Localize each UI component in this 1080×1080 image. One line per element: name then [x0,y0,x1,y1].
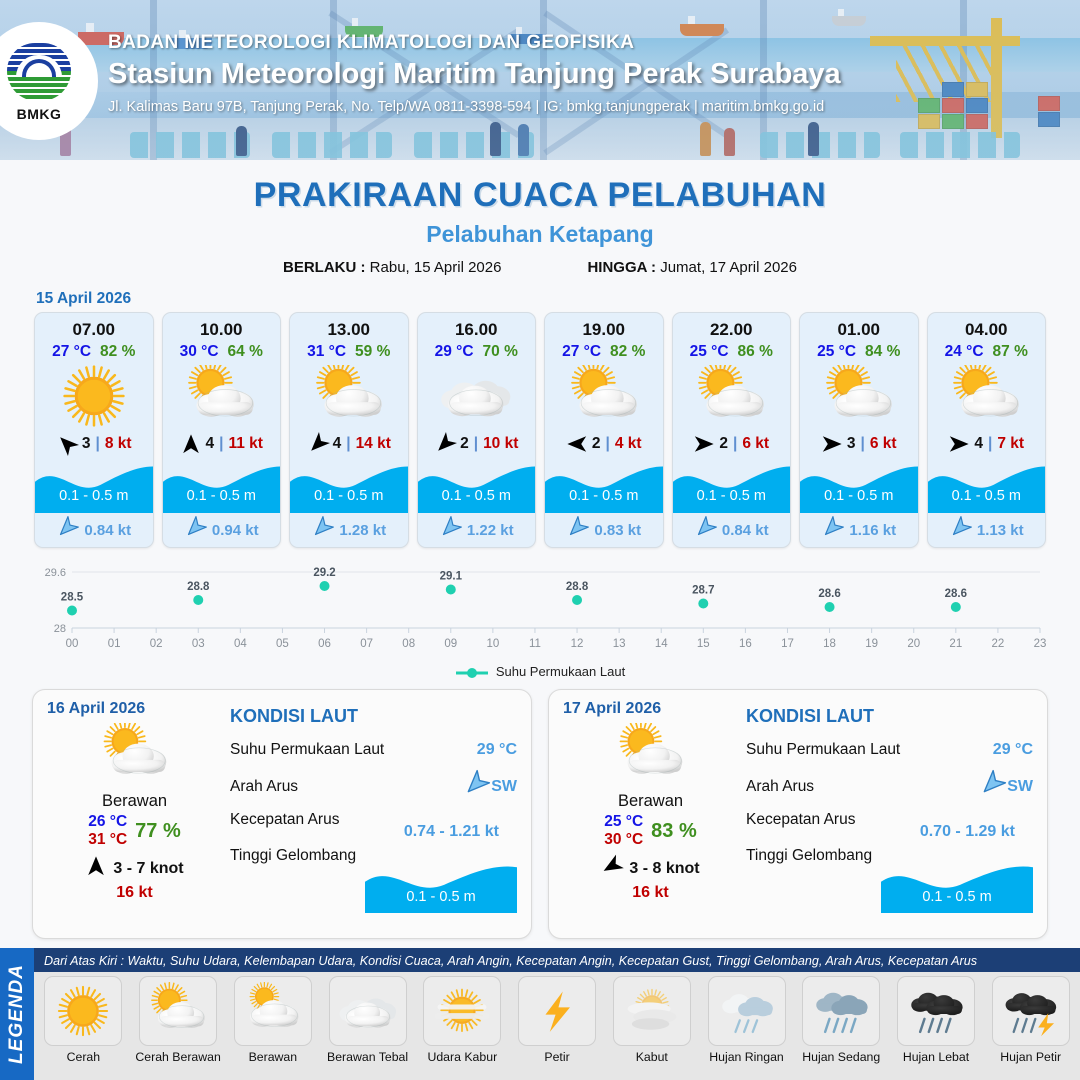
svg-text:28.6: 28.6 [945,588,967,600]
daily-temp-max: 31 °C [88,831,127,849]
valid-until: HINGGA : Jumat, 17 April 2026 [587,259,797,276]
svg-text:11: 11 [529,638,541,650]
current-direction-arrow-icon [694,517,716,544]
wave-height: 0.1 - 0.5 m [290,488,408,504]
card-temperature: 24 °C [945,343,984,361]
legend-item: Berawan [227,976,318,1064]
wind-direction-value: 2 [592,435,601,453]
sea-row-value: 0.1 - 0.5 m [881,889,1033,905]
daily-panel: 17 April 2026 Berawan 25 °C 30 °C 83 % [548,689,1048,939]
svg-text:07: 07 [360,638,373,650]
legend-items: Cerah Cerah Berawan Berawan [34,972,1080,1080]
legend-bar: LEGENDA Dari Atas Kiri : Waktu, Suhu Uda… [0,948,1080,1080]
card-humidity: 70 % [483,343,518,361]
svg-text:23: 23 [1034,638,1046,650]
svg-text:08: 08 [402,638,415,650]
card-wind: 2 | 4 kt [566,429,642,459]
weather-cerah-berawan-icon [290,363,408,429]
legend-item-label: Berawan Tebal [327,1050,408,1064]
current-direction-arrow-icon [311,517,333,544]
hourly-card: 22.00 25 °C 86 % 2 | 6 kt 0.1 - 0.5 m [672,312,792,548]
weather-udara-kabur-icon [423,976,501,1046]
daily-wind: 3 - 7 knot [85,855,183,882]
wave-height: 0.1 - 0.5 m [673,488,791,504]
hourly-card: 07.00 27 °C 82 % 3 | 8 kt 0.1 - 0.5 m [34,312,154,548]
svg-text:28.5: 28.5 [61,592,84,604]
svg-text:15: 15 [697,638,710,650]
card-temperature: 25 °C [817,343,856,361]
valid-from: BERLAKU : Rabu, 15 April 2026 [283,259,501,276]
daily-temp-min: 26 °C [88,813,127,831]
svg-text:16: 16 [739,638,752,650]
card-wind: 3 | 8 kt [56,429,132,459]
daily-humidity: 83 % [651,820,697,843]
sea-conditions: KONDISI LAUT Suhu Permukaan Laut 29 °C A… [738,700,1033,926]
card-wave: 0.1 - 0.5 m [35,461,153,513]
weather-berawan-icon [234,976,312,1046]
card-temp-hum: 29 °C 70 % [435,343,518,361]
card-temperature: 27 °C [562,343,601,361]
card-temperature: 29 °C [435,343,474,361]
daily-temp-hum: 25 °C 30 °C 83 % [604,813,697,849]
weather-cerah-berawan-icon [928,363,1046,429]
legend-item-label: Berawan [249,1050,298,1064]
svg-text:02: 02 [150,638,163,650]
sea-row-sst: Suhu Permukaan Laut 29 °C [746,731,1033,768]
card-current: 0.83 kt [545,513,663,547]
current-speed: 1.22 kt [467,522,514,539]
valid-until-value: Jumat, 17 April 2026 [660,259,797,276]
card-wind: 4 | 7 kt [948,429,1024,459]
svg-text:12: 12 [571,638,584,650]
current-speed: 1.13 kt [977,522,1024,539]
svg-text:05: 05 [276,638,289,650]
svg-text:28.6: 28.6 [818,588,840,600]
wind-separator: | [346,435,350,453]
daily-temp-min: 25 °C [604,813,643,831]
wind-direction-arrow-icon [180,433,202,455]
card-wind: 2 | 10 kt [434,429,518,459]
current-direction-arrow-icon [566,517,588,544]
wind-direction-arrow-icon [601,855,623,882]
card-temperature: 31 °C [307,343,346,361]
sea-row-label: Suhu Permukaan Laut [230,741,477,759]
svg-text:14: 14 [655,638,668,650]
card-wave: 0.1 - 0.5 m [928,461,1046,513]
wind-separator: | [219,435,223,453]
weather-cerah-berawan-icon [609,720,693,788]
legend-item: Petir [512,976,603,1064]
daily-wind-range: 3 - 7 knot [113,860,183,878]
sea-conditions-title: KONDISI LAUT [230,706,517,727]
card-time: 07.00 [72,320,115,340]
hourly-forecast-row: 07.00 27 °C 82 % 3 | 8 kt 0.1 - 0.5 m [0,312,1080,548]
card-humidity: 84 % [865,343,900,361]
page-header: BMKG BADAN METEOROLOGI KLIMATOLOGI DAN G… [0,0,1080,160]
daily-wind: 3 - 8 knot [601,855,699,882]
hourly-card: 16.00 29 °C 70 % 2 | 10 kt [417,312,537,548]
valid-from-value: Rabu, 15 April 2026 [370,259,502,276]
legend-item: Kabut [606,976,697,1064]
weather-petir-icon [518,976,596,1046]
svg-text:29.6: 29.6 [45,567,66,579]
chart-legend: Suhu Permukaan Laut [0,664,1080,679]
wave-height: 0.1 - 0.5 m [928,488,1046,504]
card-temp-hum: 25 °C 84 % [817,343,900,361]
sea-row-current-direction: Arah Arus SW [746,768,1033,805]
legend-item: Udara Kabur [417,976,508,1064]
svg-text:21: 21 [949,638,962,650]
wind-direction-value: 2 [719,435,728,453]
current-direction-arrow-icon [56,517,78,544]
sea-row-value: 0.70 - 1.29 kt [920,823,1015,840]
hourly-card: 04.00 24 °C 87 % 4 | 7 kt 0.1 - 0.5 m [927,312,1047,548]
current-direction-arrow-icon [463,771,489,802]
contact-info: Jl. Kalimas Baru 97B, Tanjung Perak, No.… [108,99,841,115]
card-current: 1.22 kt [418,513,536,547]
weather-hujan-petir-icon [992,976,1070,1046]
wind-speed: 6 kt [870,435,897,453]
wind-direction-arrow-icon [434,433,456,455]
wind-direction-arrow-icon [948,433,970,455]
wind-direction-value: 4 [333,435,342,453]
wave-height: 0.1 - 0.5 m [800,488,918,504]
current-direction-arrow-icon [184,517,206,544]
sea-row-value: 0.74 - 1.21 kt [404,823,499,840]
current-speed: 0.84 kt [722,522,769,539]
legend-note: Dari Atas Kiri : Waktu, Suhu Udara, Kele… [34,948,1080,972]
wind-separator: | [96,435,100,453]
weather-berawan-tebal-icon [329,976,407,1046]
card-temperature: 25 °C [690,343,729,361]
agency-name: BADAN METEOROLOGI KLIMATOLOGI DAN GEOFIS… [108,32,841,54]
wind-direction-arrow-icon [821,433,843,455]
hourly-card: 13.00 31 °C 59 % 4 | 14 kt 0.1 - 0.5 m [289,312,409,548]
wave-height: 0.1 - 0.5 m [35,488,153,504]
sst-chart-svg: 29.6280001020304050607080910111213141516… [34,560,1046,660]
svg-text:18: 18 [823,638,836,650]
wind-speed: 14 kt [356,435,391,453]
daily-condition: Berawan [102,792,167,811]
validity-row: BERLAKU : Rabu, 15 April 2026 HINGGA : J… [0,259,1080,276]
daily-condition: Berawan [618,792,683,811]
sea-row-label: Arah Arus [230,778,463,796]
svg-text:22: 22 [992,638,1005,650]
weather-berawan-tebal-icon [418,363,536,429]
legend-item: Berawan Tebal [322,976,413,1064]
weather-hujan-sedang-icon [802,976,880,1046]
wind-speed: 11 kt [228,435,262,453]
weather-hujan-ringan-icon [708,976,786,1046]
svg-text:28.7: 28.7 [692,585,714,597]
card-current: 1.16 kt [800,513,918,547]
svg-text:28.8: 28.8 [187,581,210,593]
sea-row-value: SW [491,778,517,796]
legend-item: Hujan Lebat [891,976,982,1064]
daily-gust: 16 kt [116,884,152,902]
weather-cerah-icon [44,976,122,1046]
card-time: 19.00 [582,320,625,340]
card-humidity: 64 % [228,343,263,361]
sea-row-sst: Suhu Permukaan Laut 29 °C [230,731,517,768]
sea-conditions-title: KONDISI LAUT [746,706,1033,727]
sea-row-current-direction: Arah Arus SW [230,768,517,805]
card-wind: 3 | 6 kt [821,429,897,459]
chart-legend-label: Suhu Permukaan Laut [496,664,625,679]
daily-temp-range: 25 °C 30 °C [604,813,643,849]
weather-cerah-berawan-icon [673,363,791,429]
current-direction-arrow-icon [439,517,461,544]
svg-text:13: 13 [613,638,626,650]
daily-wind-range: 3 - 8 knot [629,860,699,878]
wind-speed: 8 kt [105,435,132,453]
card-temp-hum: 24 °C 87 % [945,343,1028,361]
card-wave: 0.1 - 0.5 m [800,461,918,513]
card-current: 1.28 kt [290,513,408,547]
sea-row-value: SW [1007,778,1033,796]
sea-row-label: Suhu Permukaan Laut [746,741,993,759]
port-name: Pelabuhan Ketapang [0,221,1080,248]
header-text-block: BADAN METEOROLOGI KLIMATOLOGI DAN GEOFIS… [108,32,841,115]
legend-item-label: Hujan Sedang [802,1050,880,1064]
bmkg-logo-text: BMKG [17,106,62,122]
wind-speed: 4 kt [615,435,642,453]
hourly-date: 15 April 2026 [36,290,1080,308]
legend-side-label: LEGENDA [0,948,34,1080]
card-wave: 0.1 - 0.5 m [290,461,408,513]
card-humidity: 82 % [100,343,135,361]
card-wind: 4 | 11 kt [180,429,263,459]
wind-direction-arrow-icon [307,433,329,455]
svg-text:01: 01 [108,638,121,650]
card-temp-hum: 25 °C 86 % [690,343,773,361]
card-humidity: 87 % [993,343,1028,361]
chart-legend-marker-icon [455,667,489,677]
card-time: 13.00 [327,320,370,340]
hourly-card: 19.00 27 °C 82 % 2 | 4 kt 0.1 - 0.5 m [544,312,664,548]
svg-text:10: 10 [486,638,499,650]
wind-direction-arrow-icon [693,433,715,455]
legend-item: Hujan Sedang [796,976,887,1064]
daily-temp-range: 26 °C 31 °C [88,813,127,849]
wind-separator: | [861,435,865,453]
wave-height: 0.1 - 0.5 m [163,488,281,504]
card-temp-hum: 27 °C 82 % [562,343,645,361]
sea-row-value: 29 °C [993,741,1033,759]
legend-item-label: Hujan Lebat [903,1050,969,1064]
weather-cerah-berawan-icon [93,720,177,788]
card-wind: 4 | 14 kt [307,429,391,459]
wind-direction-value: 4 [974,435,983,453]
card-time: 16.00 [455,320,498,340]
weather-cerah-berawan-icon [139,976,217,1046]
weather-kabut-icon [613,976,691,1046]
svg-text:29.2: 29.2 [313,567,335,579]
wind-separator: | [733,435,737,453]
hourly-card: 01.00 25 °C 84 % 3 | 6 kt 0.1 - 0.5 m [799,312,919,548]
valid-until-label: HINGGA : [587,259,656,276]
daily-summary: 17 April 2026 Berawan 25 °C 30 °C 83 % [563,700,738,926]
current-direction-arrow-icon [949,517,971,544]
daily-humidity: 77 % [135,820,181,843]
weather-cerah-berawan-icon [800,363,918,429]
wind-direction-value: 2 [460,435,469,453]
svg-text:19: 19 [865,638,878,650]
legend-item-label: Hujan Ringan [709,1050,784,1064]
svg-text:00: 00 [66,638,79,650]
sea-row-value: 0.1 - 0.5 m [365,889,517,905]
wind-separator: | [474,435,478,453]
daily-temp-max: 30 °C [604,831,643,849]
weather-cerah-icon [35,363,153,429]
current-speed: 0.84 kt [84,522,131,539]
legend-item: Cerah [38,976,129,1064]
card-wave: 0.1 - 0.5 m [673,461,791,513]
svg-text:28: 28 [54,623,66,635]
daily-forecast-row: 16 April 2026 Berawan 26 °C 31 °C 77 % [0,679,1080,939]
svg-text:17: 17 [781,638,794,650]
wave-height: 0.1 - 0.5 m [418,488,536,504]
card-time: 04.00 [965,320,1008,340]
svg-text:06: 06 [318,638,331,650]
sea-row-value: 29 °C [477,741,517,759]
wind-direction-arrow-icon [566,433,588,455]
title-block: PRAKIRAAN CUACA PELABUHAN Pelabuhan Keta… [0,176,1080,276]
wind-speed: 10 kt [483,435,518,453]
svg-text:29.1: 29.1 [440,571,463,583]
card-wave: 0.1 - 0.5 m [163,461,281,513]
card-temperature: 30 °C [180,343,219,361]
card-temp-hum: 27 °C 82 % [52,343,135,361]
wind-speed: 7 kt [997,435,1024,453]
card-wave: 0.1 - 0.5 m [418,461,536,513]
daily-summary: 16 April 2026 Berawan 26 °C 31 °C 77 % [47,700,222,926]
sst-chart: 29.6280001020304050607080910111213141516… [34,560,1046,660]
daily-wave-graphic: 0.1 - 0.5 m [881,861,1033,913]
current-speed: 0.83 kt [594,522,641,539]
card-current: 0.84 kt [35,513,153,547]
legend-item-label: Hujan Petir [1000,1050,1061,1064]
daily-gust: 16 kt [632,884,668,902]
svg-text:20: 20 [907,638,920,650]
hourly-card: 10.00 30 °C 64 % 4 | 11 kt 0.1 - 0.5 m [162,312,282,548]
current-direction-group: SW [979,771,1033,802]
card-temp-hum: 30 °C 64 % [180,343,263,361]
current-speed: 1.16 kt [849,522,896,539]
wind-speed: 6 kt [742,435,769,453]
svg-text:03: 03 [192,638,205,650]
weather-hujan-lebat-icon [897,976,975,1046]
current-direction-group: SW [463,771,517,802]
card-wave: 0.1 - 0.5 m [545,461,663,513]
wind-direction-arrow-icon [85,855,107,882]
legend-item-label: Cerah [67,1050,101,1064]
svg-text:28.8: 28.8 [566,581,589,593]
bmkg-emblem-icon [7,41,71,105]
card-current: 1.13 kt [928,513,1046,547]
wind-direction-value: 4 [206,435,215,453]
card-time: 01.00 [837,320,880,340]
card-wind: 2 | 6 kt [693,429,769,459]
legend-body: Dari Atas Kiri : Waktu, Suhu Udara, Kele… [34,948,1080,1080]
station-name: Stasiun Meteorologi Maritim Tanjung Pera… [108,58,841,91]
card-humidity: 82 % [610,343,645,361]
daily-temp-hum: 26 °C 31 °C 77 % [88,813,181,849]
wave-height: 0.1 - 0.5 m [545,488,663,504]
daily-wave-graphic: 0.1 - 0.5 m [365,861,517,913]
svg-text:09: 09 [444,638,457,650]
sea-conditions: KONDISI LAUT Suhu Permukaan Laut 29 °C A… [222,700,517,926]
wind-direction-value: 3 [82,435,91,453]
legend-item-label: Cerah Berawan [135,1050,220,1064]
wind-separator: | [988,435,992,453]
card-temp-hum: 31 °C 59 % [307,343,390,361]
legend-item-label: Udara Kabur [427,1050,497,1064]
svg-text:04: 04 [234,638,247,650]
current-direction-arrow-icon [979,771,1005,802]
card-humidity: 59 % [355,343,390,361]
legend-item: Hujan Ringan [701,976,792,1064]
card-current: 0.94 kt [163,513,281,547]
legend-item-label: Kabut [636,1050,668,1064]
card-time: 22.00 [710,320,753,340]
page-title: PRAKIRAAN CUACA PELABUHAN [0,176,1080,215]
card-temperature: 27 °C [52,343,91,361]
current-speed: 0.94 kt [212,522,259,539]
daily-date: 16 April 2026 [47,700,145,718]
valid-from-label: BERLAKU : [283,259,366,276]
legend-item-label: Petir [544,1050,569,1064]
current-speed: 1.28 kt [339,522,386,539]
sea-row-label: Arah Arus [746,778,979,796]
weather-cerah-berawan-icon [545,363,663,429]
daily-date: 17 April 2026 [563,700,661,718]
card-humidity: 86 % [738,343,773,361]
card-current: 0.84 kt [673,513,791,547]
legend-item: Cerah Berawan [133,976,224,1064]
wind-direction-arrow-icon [56,433,78,455]
current-direction-arrow-icon [821,517,843,544]
wind-direction-value: 3 [847,435,856,453]
card-time: 10.00 [200,320,243,340]
legend-item: Hujan Petir [985,976,1076,1064]
wind-separator: | [606,435,610,453]
daily-panel: 16 April 2026 Berawan 26 °C 31 °C 77 % [32,689,532,939]
legend-side-text: LEGENDA [6,964,28,1064]
weather-cerah-berawan-icon [163,363,281,429]
